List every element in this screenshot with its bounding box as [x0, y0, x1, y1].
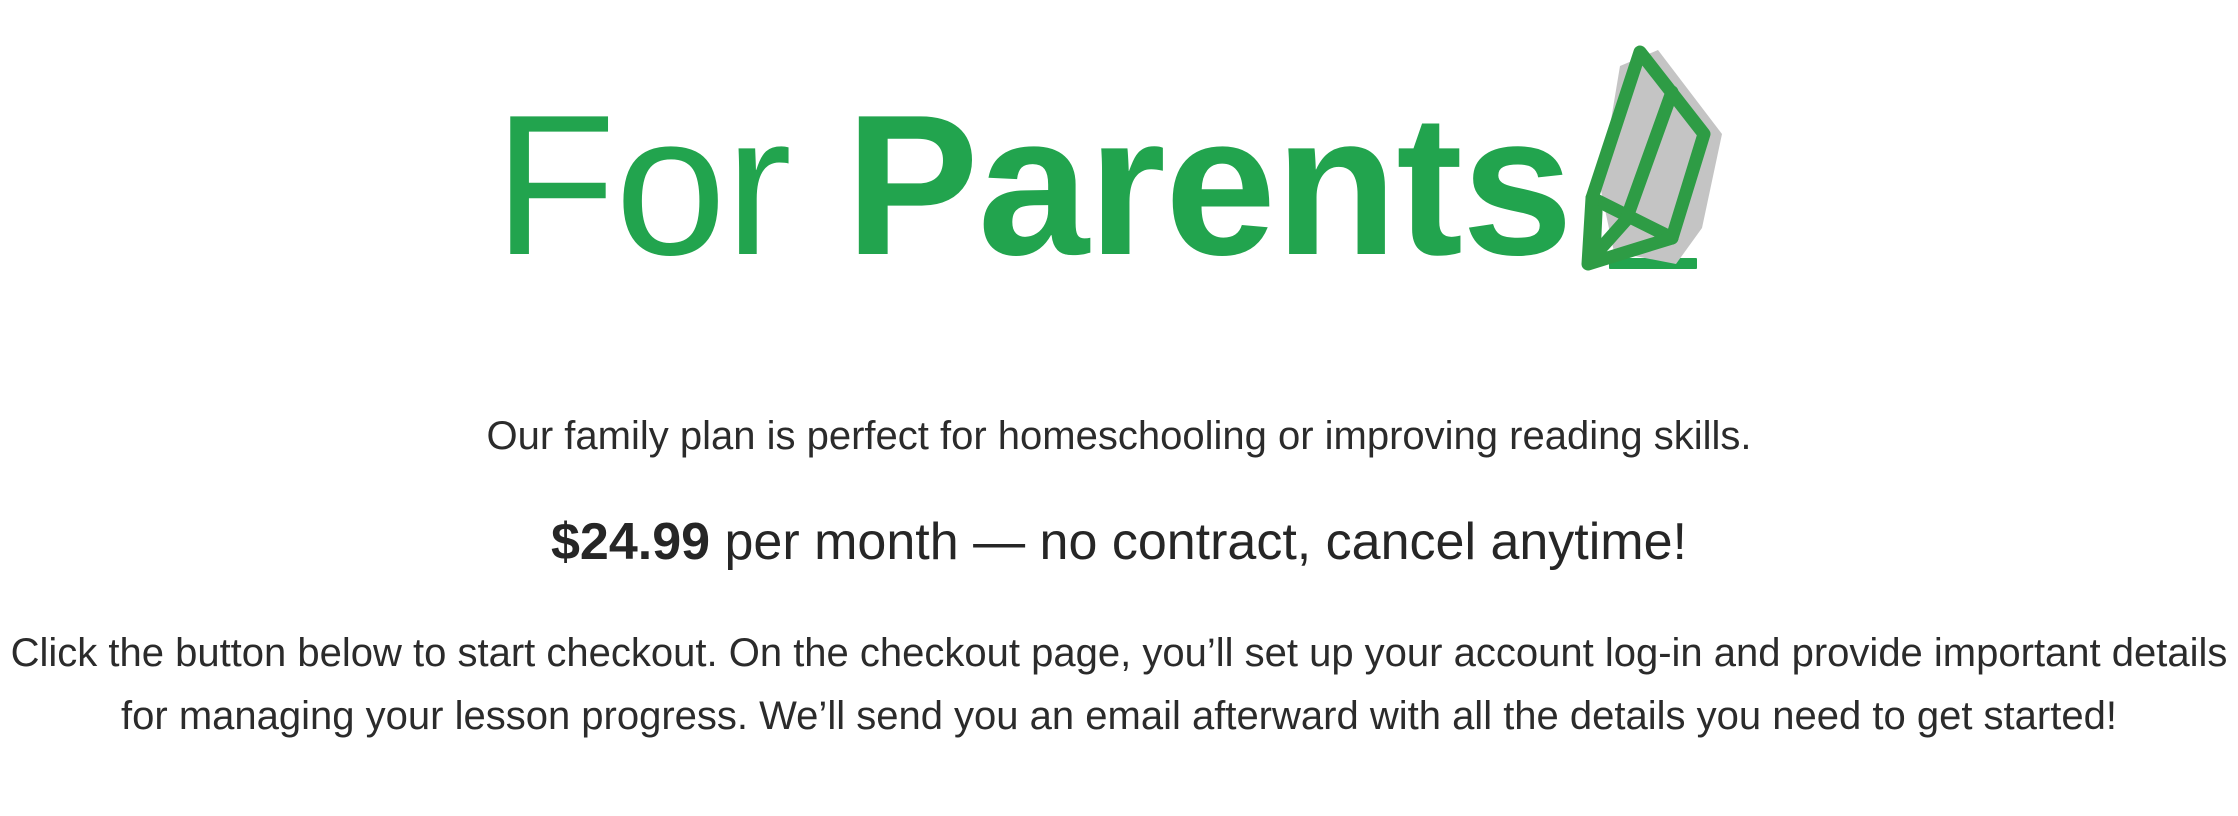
pencil-icon-wrapper	[1554, 42, 1744, 292]
for-parents-section: For Parents	[0, 0, 2238, 816]
checkout-instructions: Click the button below to start checkout…	[10, 622, 2228, 748]
page-title-light-part: For	[494, 74, 846, 297]
heading-inner: For Parents	[494, 42, 1744, 292]
page-title-bold-part: Parents	[845, 74, 1572, 297]
price-terms: per month — no contract, cancel anytime!	[710, 513, 1687, 571]
pencil-icon	[1554, 42, 1744, 292]
page-heading-row: For Parents	[0, 42, 2238, 292]
page-title: For Parents	[494, 42, 1572, 286]
price-amount: $24.99	[551, 513, 710, 571]
price-line: $24.99 per month — no contract, cancel a…	[0, 506, 2238, 579]
lead-paragraph: Our family plan is perfect for homeschoo…	[0, 406, 2238, 466]
